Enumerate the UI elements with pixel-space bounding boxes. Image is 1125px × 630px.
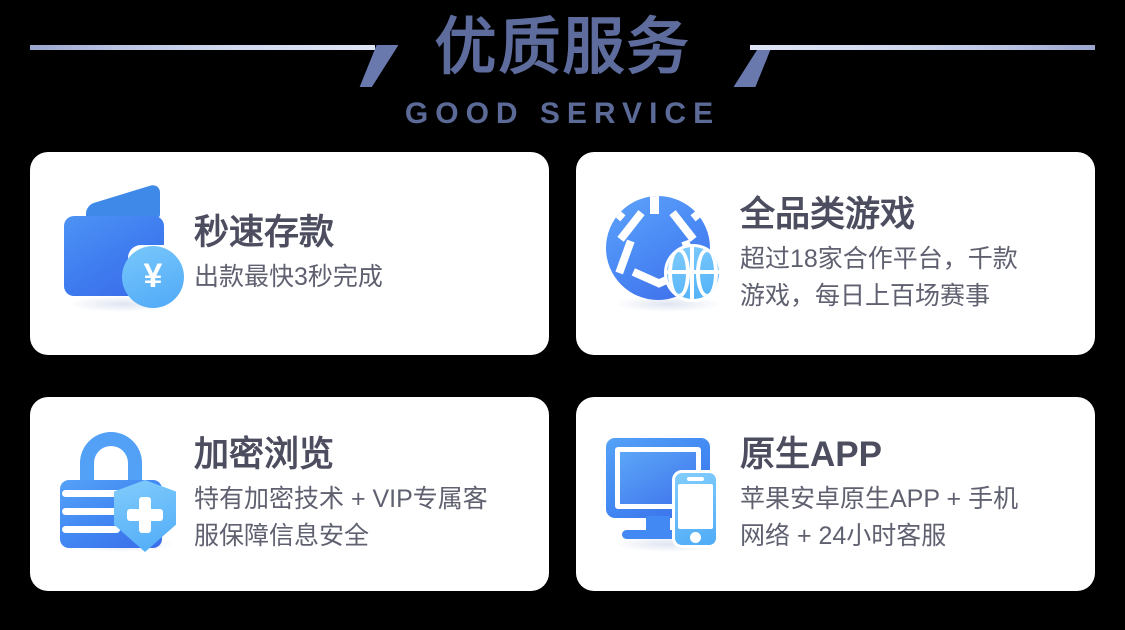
card-subtitle-line: 游戏，每日上百场赛事 xyxy=(740,278,1077,315)
phone-home-button-icon xyxy=(690,532,701,543)
wallet-yen-icon: ¥ xyxy=(56,188,188,320)
card-text-block: 加密浏览 特有加密技术 + VIP专属客 服保障信息安全 xyxy=(188,433,531,555)
phone-speaker-shape xyxy=(687,477,704,481)
card-subtitle-line: 苹果安卓原生APP + 手机 xyxy=(740,481,1077,518)
monitor-phone-icon xyxy=(602,428,734,560)
card-title: 原生APP xyxy=(740,433,1077,477)
lock-shield-icon xyxy=(56,428,188,560)
card-title: 加密浏览 xyxy=(194,433,531,477)
soccer-seam xyxy=(606,198,626,221)
card-subtitle-line: 超过18家合作平台，千款 xyxy=(740,241,1077,278)
service-card-grid: ¥ 秒速存款 出款最快3秒完成 xyxy=(30,152,1095,591)
shield-cross-icon xyxy=(127,509,163,521)
page-title: 优质服务 xyxy=(0,8,1125,88)
soccer-seam xyxy=(690,198,710,221)
card-text-block: 全品类游戏 超过18家合作平台，千款 游戏，每日上百场赛事 xyxy=(734,193,1077,315)
soccer-seam xyxy=(650,196,659,214)
basketball-arc xyxy=(696,248,718,298)
lock-slot xyxy=(62,490,120,497)
card-text-block: 原生APP 苹果安卓原生APP + 手机 网络 + 24小时客服 xyxy=(734,433,1077,555)
yen-coin-icon: ¥ xyxy=(122,246,184,308)
basketball-shape xyxy=(664,244,722,302)
page-subtitle: GOOD SERVICE xyxy=(0,96,1125,132)
card-title: 秒速存款 xyxy=(194,211,531,255)
card-text-block: 秒速存款 出款最快3秒完成 xyxy=(188,211,531,296)
card-subtitle-line: 服保障信息安全 xyxy=(194,518,531,555)
service-card-native-app[interactable]: 原生APP 苹果安卓原生APP + 手机 网络 + 24小时客服 xyxy=(576,397,1095,591)
lock-slot xyxy=(62,526,120,533)
card-subtitle-line: 特有加密技术 + VIP专属客 xyxy=(194,481,531,518)
card-subtitle-line: 网络 + 24小时客服 xyxy=(740,518,1077,555)
service-card-deposit[interactable]: ¥ 秒速存款 出款最快3秒完成 xyxy=(30,152,549,355)
soccer-seam xyxy=(615,239,634,274)
card-title: 全品类游戏 xyxy=(740,193,1077,237)
soccer-basketball-icon xyxy=(602,188,734,320)
page-header: 优质服务 GOOD SERVICE xyxy=(0,0,1125,150)
phone-screen-shape xyxy=(678,484,713,529)
basketball-arc xyxy=(668,248,690,298)
card-subtitle-line: 出款最快3秒完成 xyxy=(194,259,531,296)
service-card-encryption[interactable]: 加密浏览 特有加密技术 + VIP专属客 服保障信息安全 xyxy=(30,397,549,591)
service-card-games[interactable]: 全品类游戏 超过18家合作平台，千款 游戏，每日上百场赛事 xyxy=(576,152,1095,355)
